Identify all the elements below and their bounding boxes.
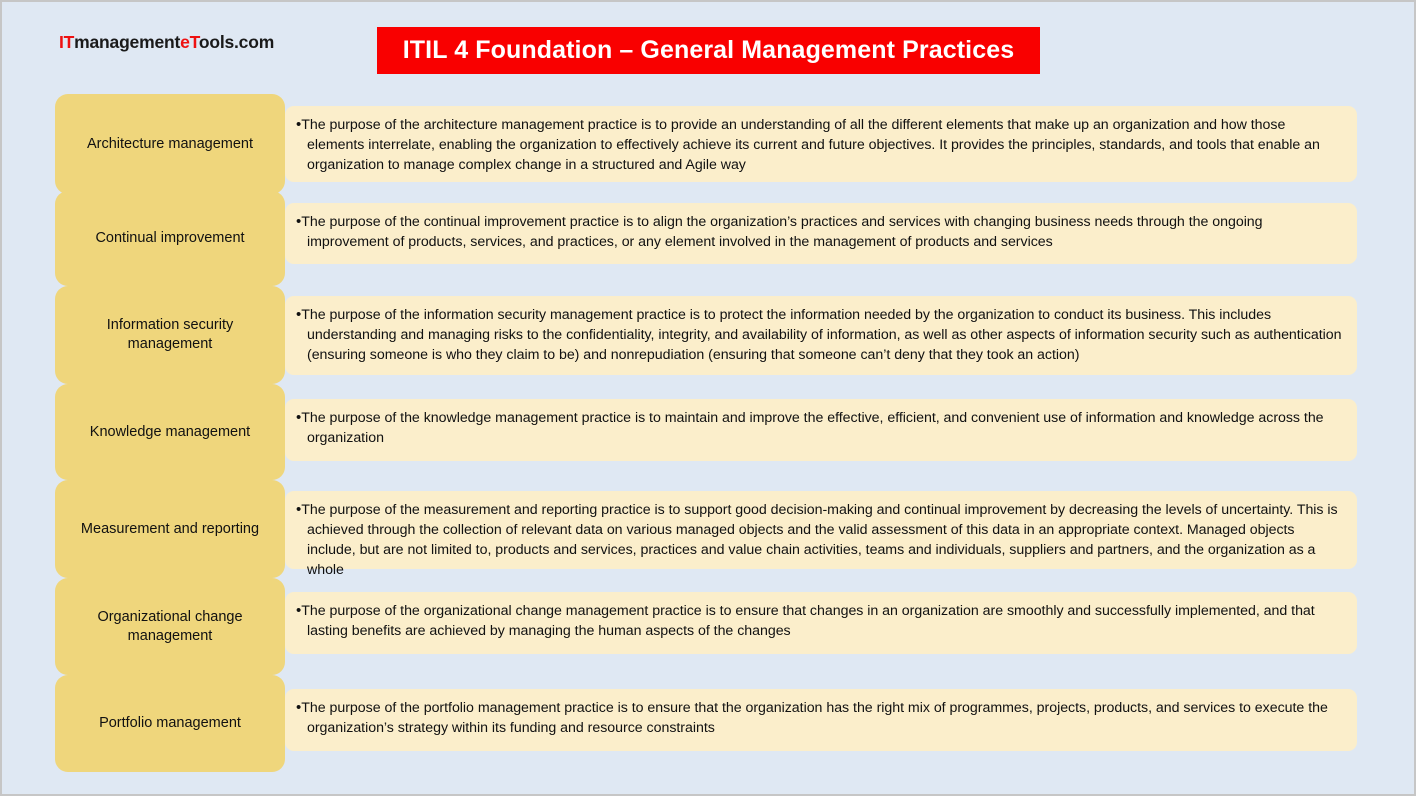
practice-description-bullet: •The purpose of the continual improvemen… bbox=[296, 212, 1344, 252]
practice-description-box: •The purpose of the knowledge management… bbox=[285, 399, 1357, 461]
practice-label-text: Architecture management bbox=[87, 135, 253, 154]
page-title: ITIL 4 Foundation – General Management P… bbox=[403, 36, 1014, 65]
practice-description-box: •The purpose of the organizational chang… bbox=[285, 592, 1357, 654]
practice-description-text: The purpose of the measurement and repor… bbox=[301, 502, 1337, 578]
practice-description-box: •The purpose of the portfolio management… bbox=[285, 689, 1357, 751]
practice-label-text: Continual improvement bbox=[95, 229, 244, 248]
practice-description-text: The purpose of the information security … bbox=[301, 307, 1341, 363]
site-logo: ITmanagementeTools.com bbox=[59, 32, 274, 53]
practice-label-text: Information security management bbox=[65, 316, 275, 354]
logo-segment-oolscom: ools.com bbox=[199, 32, 274, 52]
practice-label-text: Portfolio management bbox=[99, 714, 241, 733]
practice-description-box: •The purpose of the information security… bbox=[285, 296, 1357, 375]
practice-description-bullet: •The purpose of the organizational chang… bbox=[296, 601, 1344, 641]
practice-label-box[interactable]: Measurement and reporting bbox=[55, 480, 285, 578]
practice-label-box[interactable]: Organizational change management bbox=[55, 578, 285, 675]
practices-list: •The purpose of the architecture managem… bbox=[2, 94, 1416, 772]
practice-description-text: The purpose of the knowledge management … bbox=[301, 410, 1323, 446]
practice-description-text: The purpose of the portfolio management … bbox=[301, 700, 1328, 736]
practice-description-text: The purpose of the organizational change… bbox=[301, 603, 1314, 639]
practice-label-box[interactable]: Information security management bbox=[55, 286, 285, 384]
practice-label-box[interactable]: Architecture management bbox=[55, 94, 285, 194]
logo-segment-management: management bbox=[74, 32, 180, 52]
practice-description-bullet: •The purpose of the measurement and repo… bbox=[296, 500, 1344, 581]
practice-description-box: •The purpose of the measurement and repo… bbox=[285, 491, 1357, 569]
logo-segment-et: eT bbox=[180, 32, 199, 52]
logo-segment-it: IT bbox=[59, 32, 74, 52]
practice-description-bullet: •The purpose of the information security… bbox=[296, 305, 1344, 365]
practice-description-text: The purpose of the architecture manageme… bbox=[301, 117, 1320, 173]
practice-description-text: The purpose of the continual improvement… bbox=[301, 214, 1262, 250]
slide-canvas: ITmanagementeTools.com ITIL 4 Foundation… bbox=[0, 0, 1416, 796]
practice-label-text: Organizational change management bbox=[65, 608, 275, 646]
title-banner: ITIL 4 Foundation – General Management P… bbox=[377, 27, 1040, 74]
practice-label-text: Knowledge management bbox=[90, 423, 250, 442]
practice-description-bullet: •The purpose of the architecture managem… bbox=[296, 115, 1344, 175]
practice-description-box: •The purpose of the architecture managem… bbox=[285, 106, 1357, 182]
practice-description-bullet: •The purpose of the knowledge management… bbox=[296, 408, 1344, 448]
practice-label-box[interactable]: Continual improvement bbox=[55, 191, 285, 286]
practice-label-text: Measurement and reporting bbox=[81, 520, 259, 539]
practice-description-box: •The purpose of the continual improvemen… bbox=[285, 203, 1357, 264]
practice-description-bullet: •The purpose of the portfolio management… bbox=[296, 698, 1344, 738]
practice-label-box[interactable]: Knowledge management bbox=[55, 384, 285, 480]
practice-label-box[interactable]: Portfolio management bbox=[55, 675, 285, 772]
